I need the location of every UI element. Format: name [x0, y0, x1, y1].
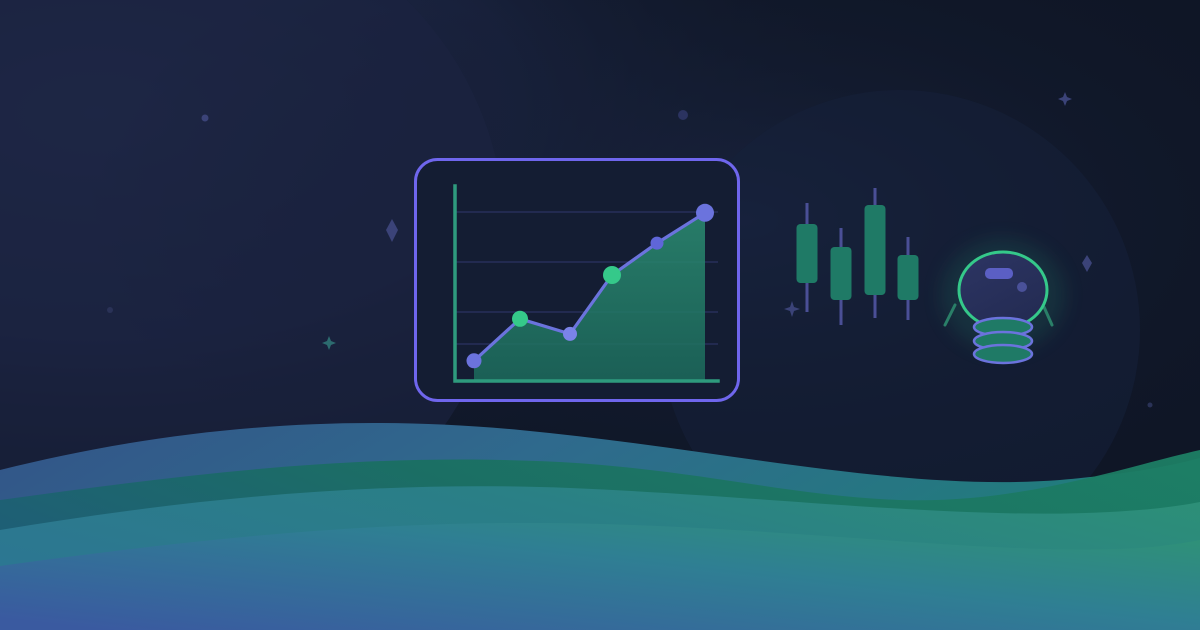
candle-body — [831, 247, 852, 300]
scene-svg — [0, 0, 1200, 630]
lightbulb-glass — [959, 252, 1047, 328]
lightbulb-ring-3 — [974, 345, 1032, 363]
data-point[interactable] — [563, 327, 577, 341]
candle-body — [797, 224, 818, 283]
data-point[interactable] — [651, 237, 664, 250]
lightbulb-highlight — [985, 268, 1013, 279]
candle-body — [865, 205, 886, 295]
data-point[interactable] — [603, 266, 621, 284]
star-dot-top-left — [202, 115, 209, 122]
star-dot-left-low — [107, 307, 113, 313]
lightbulb-sparkle-dot — [1017, 282, 1027, 292]
line-chart-card[interactable] — [416, 160, 739, 401]
candle-body — [898, 255, 919, 300]
illustration-canvas: Trading analytics hero illustration Upwa… — [0, 0, 1200, 630]
lightbulb-base-rings — [974, 318, 1032, 363]
star-dot-far-right — [1148, 403, 1153, 408]
data-point[interactable] — [467, 353, 482, 368]
star-dot-top-center — [678, 110, 688, 120]
data-point[interactable] — [696, 204, 714, 222]
data-point[interactable] — [512, 311, 528, 327]
